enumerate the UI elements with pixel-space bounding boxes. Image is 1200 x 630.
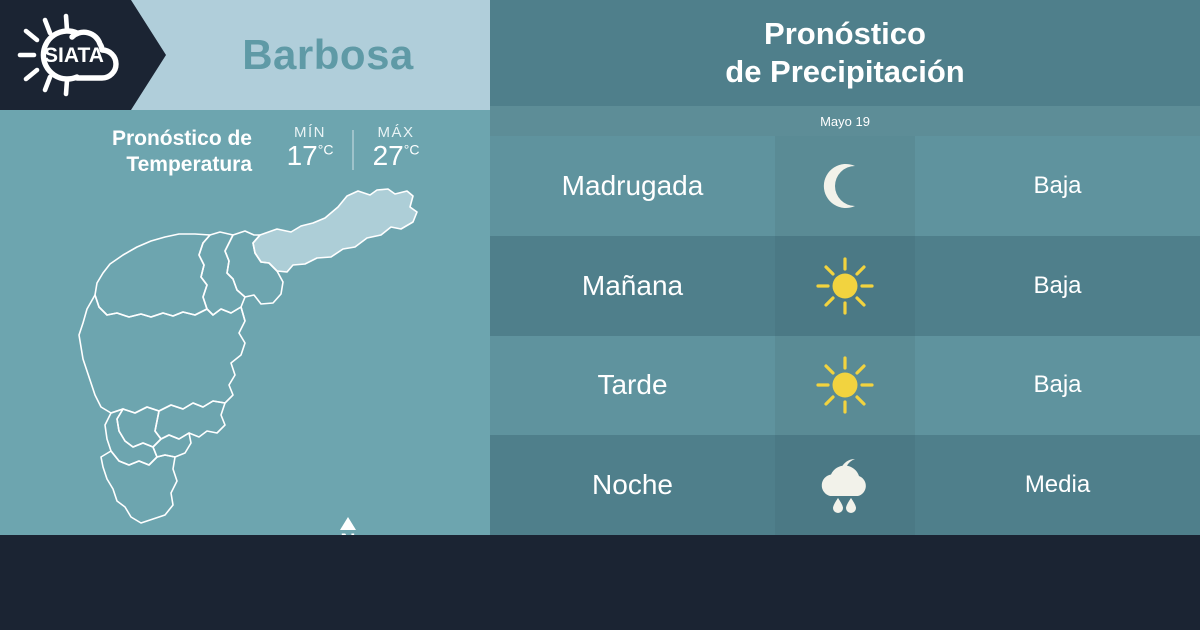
row-probability-label: Media bbox=[1025, 471, 1090, 499]
map-region-la-estrella bbox=[105, 409, 157, 465]
row-probability-cell: Baja bbox=[915, 336, 1200, 436]
sun-icon bbox=[815, 256, 875, 316]
temperature-min-label: MÍN bbox=[294, 124, 326, 141]
precipitation-panel: Pronóstico de Precipitación Mayo 19 Madr… bbox=[490, 0, 1200, 535]
temperature-min-unit: °C bbox=[318, 142, 334, 158]
footer: @siatamedellin www.siata.gov.co Con el a… bbox=[0, 535, 1200, 630]
table-row: Mañana bbox=[490, 236, 1200, 336]
compass-arrow-icon bbox=[340, 517, 356, 530]
moon-icon bbox=[817, 158, 873, 214]
aburra-valley-map: N bbox=[55, 185, 455, 530]
weather-forecast-infographic: SIATA Barbosa Pronóstico de Temperatura … bbox=[0, 0, 1200, 630]
map-region-copacabana bbox=[199, 232, 245, 315]
temperature-min: MÍN 17°C bbox=[274, 124, 346, 172]
temperature-block: Pronóstico de Temperatura MÍN 17°C MÁX 2… bbox=[70, 122, 470, 184]
row-period-cell: Mañana bbox=[490, 236, 775, 336]
map-inner-line-1 bbox=[241, 307, 245, 321]
temperature-title-line2: Temperatura bbox=[70, 152, 252, 178]
siata-logo-banner: SIATA bbox=[0, 0, 166, 110]
table-row: Noche Media bbox=[490, 435, 1200, 535]
precipitation-table: Madrugada Baja Mañana bbox=[490, 136, 1200, 535]
precipitation-date-band: Mayo 19 bbox=[490, 106, 1200, 136]
temperature-max-label: MÁX bbox=[377, 124, 414, 141]
precipitation-date: Mayo 19 bbox=[820, 114, 870, 129]
map-region-envigado bbox=[155, 401, 225, 439]
temperature-title-line1: Pronóstico de bbox=[70, 126, 252, 152]
temperature-max-unit: °C bbox=[404, 142, 420, 158]
siata-logo-text: SIATA bbox=[44, 44, 104, 67]
row-period-label: Noche bbox=[592, 469, 673, 501]
map-region-caldas bbox=[101, 451, 177, 523]
row-icon-cell bbox=[775, 435, 915, 535]
row-probability-cell: Media bbox=[915, 435, 1200, 535]
table-row: Madrugada Baja bbox=[490, 136, 1200, 236]
temperature-max-value: 27°C bbox=[373, 140, 420, 172]
sun-icon bbox=[815, 355, 875, 415]
map-svg bbox=[55, 185, 455, 530]
row-period-cell: Noche bbox=[490, 435, 775, 535]
row-probability-label: Baja bbox=[1033, 272, 1081, 300]
row-period-label: Tarde bbox=[597, 369, 667, 401]
map-region-itagui bbox=[117, 407, 161, 447]
sun-cloud-icon: SIATA bbox=[14, 12, 136, 98]
precipitation-title-line2: de Precipitación bbox=[725, 53, 964, 91]
row-probability-label: Baja bbox=[1033, 172, 1081, 200]
precipitation-header: Pronóstico de Precipitación bbox=[490, 0, 1200, 106]
row-probability-cell: Baja bbox=[915, 236, 1200, 336]
map-region-medellin bbox=[79, 295, 245, 413]
left-panel: SIATA Barbosa Pronóstico de Temperatura … bbox=[0, 0, 490, 535]
row-icon-cell bbox=[775, 336, 915, 436]
city-name: Barbosa bbox=[166, 0, 490, 110]
city-name-text: Barbosa bbox=[242, 31, 414, 79]
rain-moon-icon bbox=[814, 456, 876, 514]
temperature-min-value: 17°C bbox=[287, 140, 334, 172]
row-icon-cell bbox=[775, 136, 915, 236]
row-probability-label: Baja bbox=[1033, 371, 1081, 399]
precipitation-title: Pronóstico de Precipitación bbox=[725, 15, 964, 91]
table-row: Tarde bbox=[490, 336, 1200, 436]
row-period-cell: Madrugada bbox=[490, 136, 775, 236]
row-period-cell: Tarde bbox=[490, 336, 775, 436]
map-region-bello bbox=[95, 234, 210, 317]
row-probability-cell: Baja bbox=[915, 136, 1200, 236]
row-period-label: Madrugada bbox=[562, 170, 704, 202]
temperature-max: MÁX 27°C bbox=[360, 124, 432, 172]
temperature-values: MÍN 17°C MÁX 27°C bbox=[274, 122, 432, 172]
row-icon-cell bbox=[775, 236, 915, 336]
row-period-label: Mañana bbox=[582, 270, 683, 302]
temperature-title: Pronóstico de Temperatura bbox=[70, 122, 252, 179]
temperature-divider bbox=[352, 130, 354, 170]
precipitation-title-line1: Pronóstico bbox=[725, 15, 964, 53]
map-region-barbosa bbox=[253, 189, 417, 272]
